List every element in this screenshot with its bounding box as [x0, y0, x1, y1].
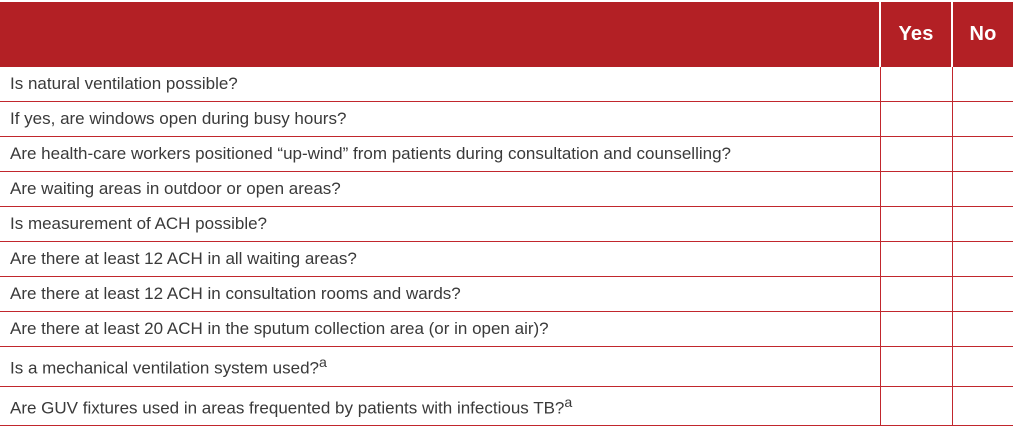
table-row: Is measurement of ACH possible?: [0, 207, 1013, 242]
table-row: Are there at least 12 ACH in all waiting…: [0, 242, 1013, 277]
yes-checkbox-cell[interactable]: [880, 102, 952, 137]
yes-checkbox-cell[interactable]: [880, 242, 952, 277]
table-body: Is natural ventilation possible?If yes, …: [0, 67, 1013, 426]
yes-checkbox-cell[interactable]: [880, 172, 952, 207]
question-cell: Are there at least 12 ACH in all waiting…: [0, 242, 880, 277]
yes-checkbox-cell[interactable]: [880, 277, 952, 312]
header-question-column: [0, 2, 880, 67]
no-checkbox-cell[interactable]: [952, 386, 1013, 426]
yes-checkbox-cell[interactable]: [880, 312, 952, 347]
yes-checkbox-cell[interactable]: [880, 347, 952, 387]
table-row: If yes, are windows open during busy hou…: [0, 102, 1013, 137]
table-header: Yes No: [0, 2, 1013, 67]
table-row: Are health-care workers positioned “up-w…: [0, 137, 1013, 172]
ventilation-checklist-table: Yes No Is natural ventilation possible?I…: [0, 2, 1013, 426]
question-cell: If yes, are windows open during busy hou…: [0, 102, 880, 137]
question-cell: Are GUV fixtures used in areas frequente…: [0, 386, 880, 426]
question-text: If yes, are windows open during busy hou…: [10, 109, 346, 128]
question-cell: Is measurement of ACH possible?: [0, 207, 880, 242]
question-text: Are there at least 20 ACH in the sputum …: [10, 319, 549, 338]
question-cell: Are there at least 12 ACH in consultatio…: [0, 277, 880, 312]
question-text: Is measurement of ACH possible?: [10, 214, 267, 233]
table-row: Are waiting areas in outdoor or open are…: [0, 172, 1013, 207]
no-checkbox-cell[interactable]: [952, 242, 1013, 277]
question-text: Are GUV fixtures used in areas frequente…: [10, 398, 564, 417]
no-checkbox-cell[interactable]: [952, 67, 1013, 102]
table-row: Is a mechanical ventilation system used?…: [0, 347, 1013, 387]
yes-checkbox-cell[interactable]: [880, 137, 952, 172]
no-checkbox-cell[interactable]: [952, 102, 1013, 137]
no-checkbox-cell[interactable]: [952, 172, 1013, 207]
header-no-column: No: [952, 2, 1013, 67]
yes-checkbox-cell[interactable]: [880, 67, 952, 102]
no-checkbox-cell[interactable]: [952, 347, 1013, 387]
question-cell: Are waiting areas in outdoor or open are…: [0, 172, 880, 207]
footnote-marker: a: [319, 355, 327, 371]
table-row: Is natural ventilation possible?: [0, 67, 1013, 102]
question-cell: Are there at least 20 ACH in the sputum …: [0, 312, 880, 347]
question-text: Is a mechanical ventilation system used?: [10, 359, 319, 378]
question-text: Are there at least 12 ACH in consultatio…: [10, 284, 461, 303]
no-checkbox-cell[interactable]: [952, 207, 1013, 242]
question-text: Are health-care workers positioned “up-w…: [10, 144, 731, 163]
yes-checkbox-cell[interactable]: [880, 386, 952, 426]
no-checkbox-cell[interactable]: [952, 277, 1013, 312]
question-cell: Is a mechanical ventilation system used?…: [0, 347, 880, 387]
table-row: Are GUV fixtures used in areas frequente…: [0, 386, 1013, 426]
yes-checkbox-cell[interactable]: [880, 207, 952, 242]
question-cell: Are health-care workers positioned “up-w…: [0, 137, 880, 172]
question-text: Is natural ventilation possible?: [10, 74, 238, 93]
question-text: Are waiting areas in outdoor or open are…: [10, 179, 341, 198]
no-checkbox-cell[interactable]: [952, 137, 1013, 172]
table-row: Are there at least 20 ACH in the sputum …: [0, 312, 1013, 347]
footnote-marker: a: [564, 395, 572, 411]
table-row: Are there at least 12 ACH in consultatio…: [0, 277, 1013, 312]
checklist-container: Yes No Is natural ventilation possible?I…: [0, 0, 1024, 429]
header-row: Yes No: [0, 2, 1013, 67]
question-cell: Is natural ventilation possible?: [0, 67, 880, 102]
question-text: Are there at least 12 ACH in all waiting…: [10, 249, 357, 268]
no-checkbox-cell[interactable]: [952, 312, 1013, 347]
header-yes-column: Yes: [880, 2, 952, 67]
